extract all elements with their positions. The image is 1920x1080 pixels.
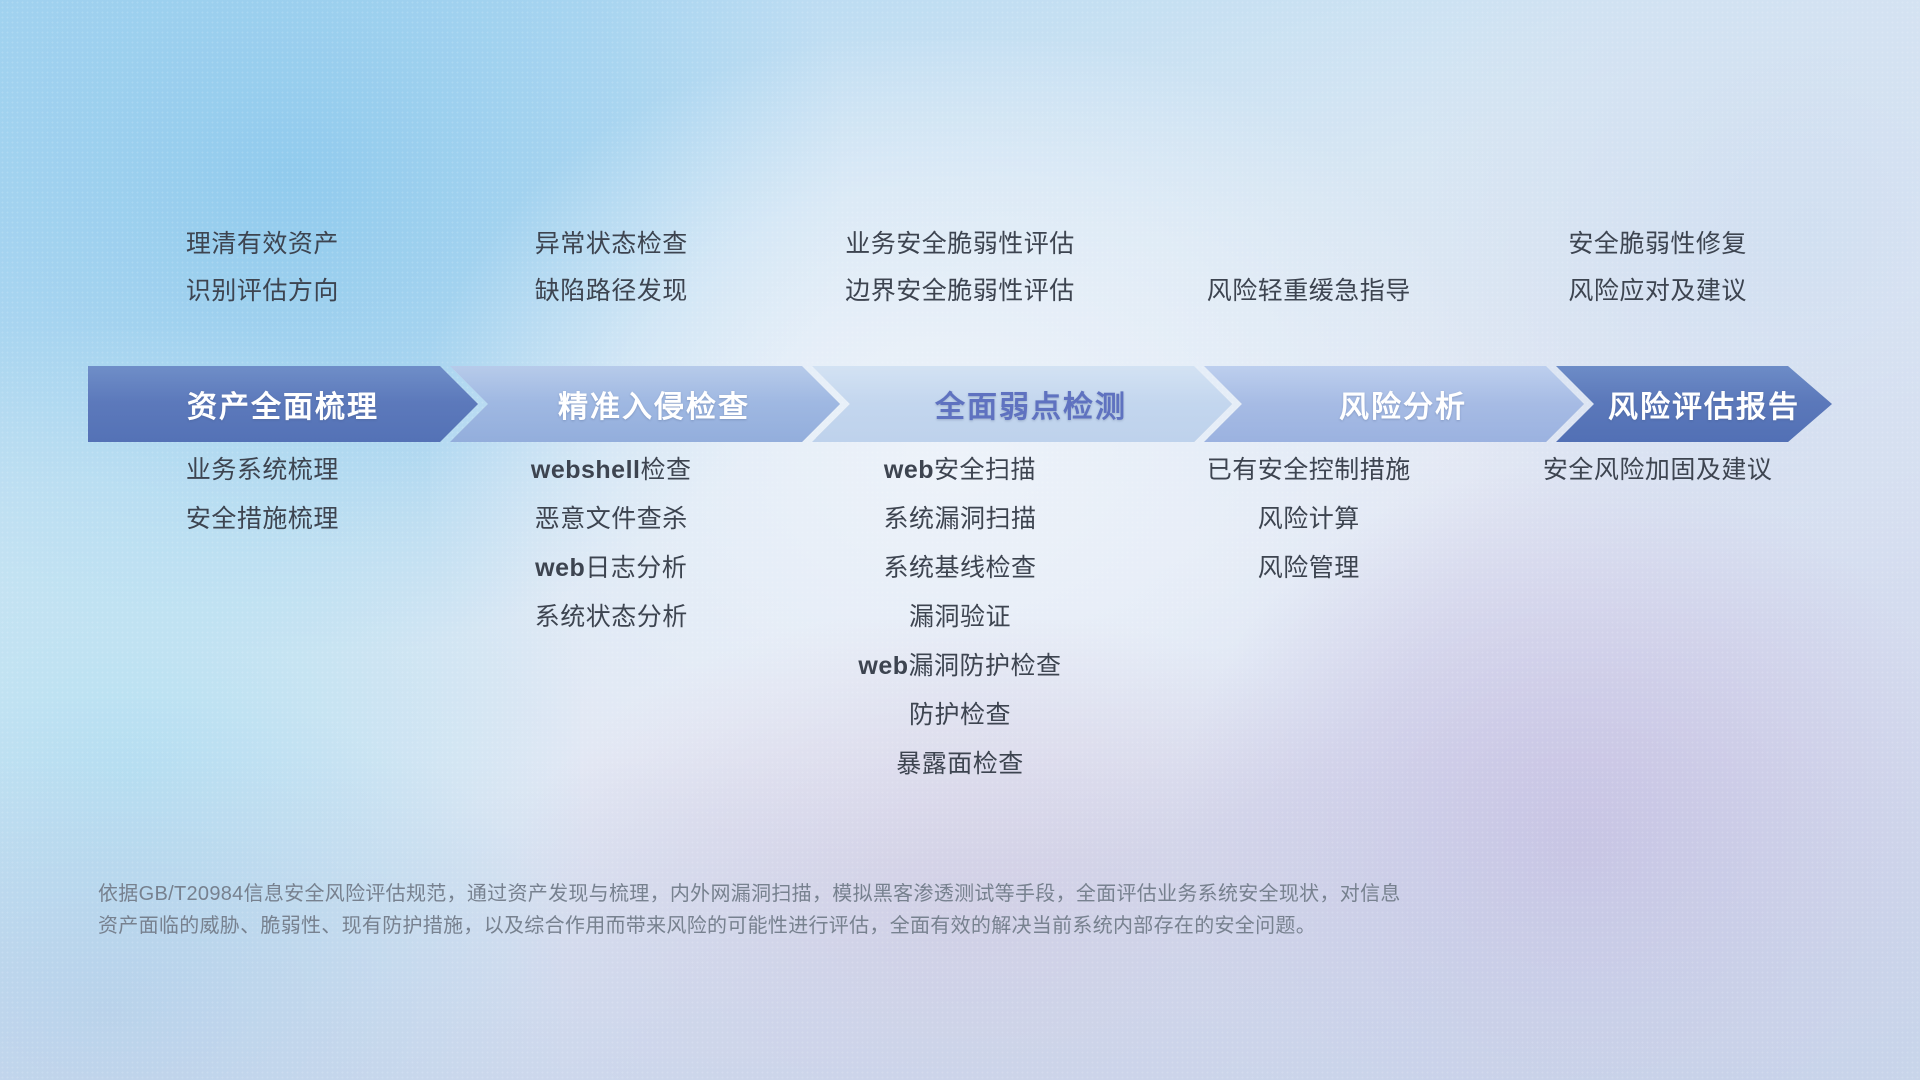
- chevron-step-weakness-detection[interactable]: 全面弱点检测: [812, 366, 1232, 442]
- chevron-label: 精准入侵检查: [558, 382, 750, 426]
- chevron-label: 风险分析: [1339, 382, 1467, 426]
- top-caption: 异常状态检查: [535, 232, 688, 257]
- bottom-caption: 安全风险加固及建议: [1543, 458, 1773, 483]
- chevron-step-asset-inventory[interactable]: 资产全面梳理: [88, 366, 478, 442]
- bottom-caption: 系统状态分析: [535, 605, 688, 630]
- top-captions-weakness-detection: 业务安全脆弱性评估 边界安全脆弱性评估: [786, 232, 1135, 304]
- chevron-step-risk-report[interactable]: 风险评估报告: [1556, 366, 1832, 442]
- top-caption: 识别评估方向: [186, 279, 339, 304]
- bottom-captions-asset-inventory: 业务系统梳理 安全措施梳理: [88, 458, 437, 556]
- bottom-caption: webshell检查: [531, 458, 692, 483]
- top-caption: 边界安全脆弱性评估: [845, 279, 1075, 304]
- chevron-label: 风险评估报告: [1608, 382, 1800, 426]
- chevron-label: 全面弱点检测: [935, 382, 1127, 426]
- chevron-step-risk-analysis[interactable]: 风险分析: [1204, 366, 1584, 442]
- bottom-caption: web日志分析: [535, 556, 687, 581]
- bottom-caption-prefix: webshell: [531, 456, 641, 484]
- bottom-caption: 暴露面检查: [896, 752, 1024, 777]
- top-caption: 风险轻重缓急指导: [1207, 279, 1411, 304]
- bottom-caption-prefix: web: [884, 456, 934, 484]
- footnote-line: 资产面临的威胁、脆弱性、现有防护措施，以及综合作用而带来风险的可能性进行评估，全…: [98, 910, 1638, 942]
- bottom-caption: 风险管理: [1258, 556, 1360, 581]
- top-captions-asset-inventory: 理清有效资产 识别评估方向: [88, 232, 437, 304]
- top-caption: 理清有效资产: [186, 232, 339, 257]
- chevron-label: 资产全面梳理: [187, 382, 379, 426]
- bottom-caption: 系统漏洞扫描: [883, 507, 1036, 532]
- chevron-step-intrusion-check[interactable]: 精准入侵检查: [450, 366, 840, 442]
- bottom-caption: 风险计算: [1258, 507, 1360, 532]
- bottom-caption: web漏洞防护检查: [858, 654, 1061, 679]
- bottom-caption-text: 安全扫描: [934, 456, 1036, 484]
- footnote-line: 依据GB/T20984信息安全风险评估规范，通过资产发现与梳理，内外网漏洞扫描，…: [98, 878, 1638, 910]
- bottom-captions-weakness-detection: web安全扫描 系统漏洞扫描 系统基线检查 漏洞验证 web漏洞防护检查 防护检…: [786, 458, 1135, 801]
- bottom-captions-risk-analysis: 已有安全控制措施 风险计算 风险管理: [1134, 458, 1483, 605]
- bottom-caption: 安全措施梳理: [186, 507, 339, 532]
- process-chevron-banner: 资产全面梳理 精准入侵检查 全面弱点检测 风险分析 风险评估报告: [88, 366, 1832, 442]
- bottom-caption: 漏洞验证: [909, 605, 1011, 630]
- top-caption: 业务安全脆弱性评估: [845, 232, 1075, 257]
- bottom-captions-risk-report: 安全风险加固及建议: [1483, 458, 1832, 507]
- bottom-captions-row: 业务系统梳理 安全措施梳理 webshell检查 恶意文件查杀 web日志分析 …: [88, 458, 1832, 801]
- top-captions-intrusion-check: 异常状态检查 缺陷路径发现: [437, 232, 786, 304]
- bottom-caption: 恶意文件查杀: [535, 507, 688, 532]
- top-captions-risk-report: 安全脆弱性修复 风险应对及建议: [1483, 232, 1832, 304]
- bottom-caption-text: 检查: [640, 456, 691, 484]
- bottom-captions-intrusion-check: webshell检查 恶意文件查杀 web日志分析 系统状态分析: [437, 458, 786, 654]
- bottom-caption: 已有安全控制措施: [1207, 458, 1411, 483]
- top-caption: 风险应对及建议: [1568, 279, 1747, 304]
- footnote: 依据GB/T20984信息安全风险评估规范，通过资产发现与梳理，内外网漏洞扫描，…: [98, 878, 1638, 943]
- top-caption: 缺陷路径发现: [535, 279, 688, 304]
- bottom-caption-prefix: web: [535, 554, 585, 582]
- top-caption: 安全脆弱性修复: [1568, 232, 1747, 257]
- bottom-caption-prefix: web: [858, 652, 908, 680]
- bottom-caption: 防护检查: [909, 703, 1011, 728]
- bottom-caption: web安全扫描: [884, 458, 1036, 483]
- bottom-caption: 系统基线检查: [883, 556, 1036, 581]
- top-captions-row: 理清有效资产 识别评估方向 异常状态检查 缺陷路径发现 业务安全脆弱性评估 边界…: [88, 232, 1832, 304]
- bottom-caption: 业务系统梳理: [186, 458, 339, 483]
- bottom-caption-text: 日志分析: [585, 554, 687, 582]
- bottom-caption-text: 漏洞防护检查: [909, 652, 1062, 680]
- top-captions-risk-analysis: 风险轻重缓急指导: [1134, 232, 1483, 304]
